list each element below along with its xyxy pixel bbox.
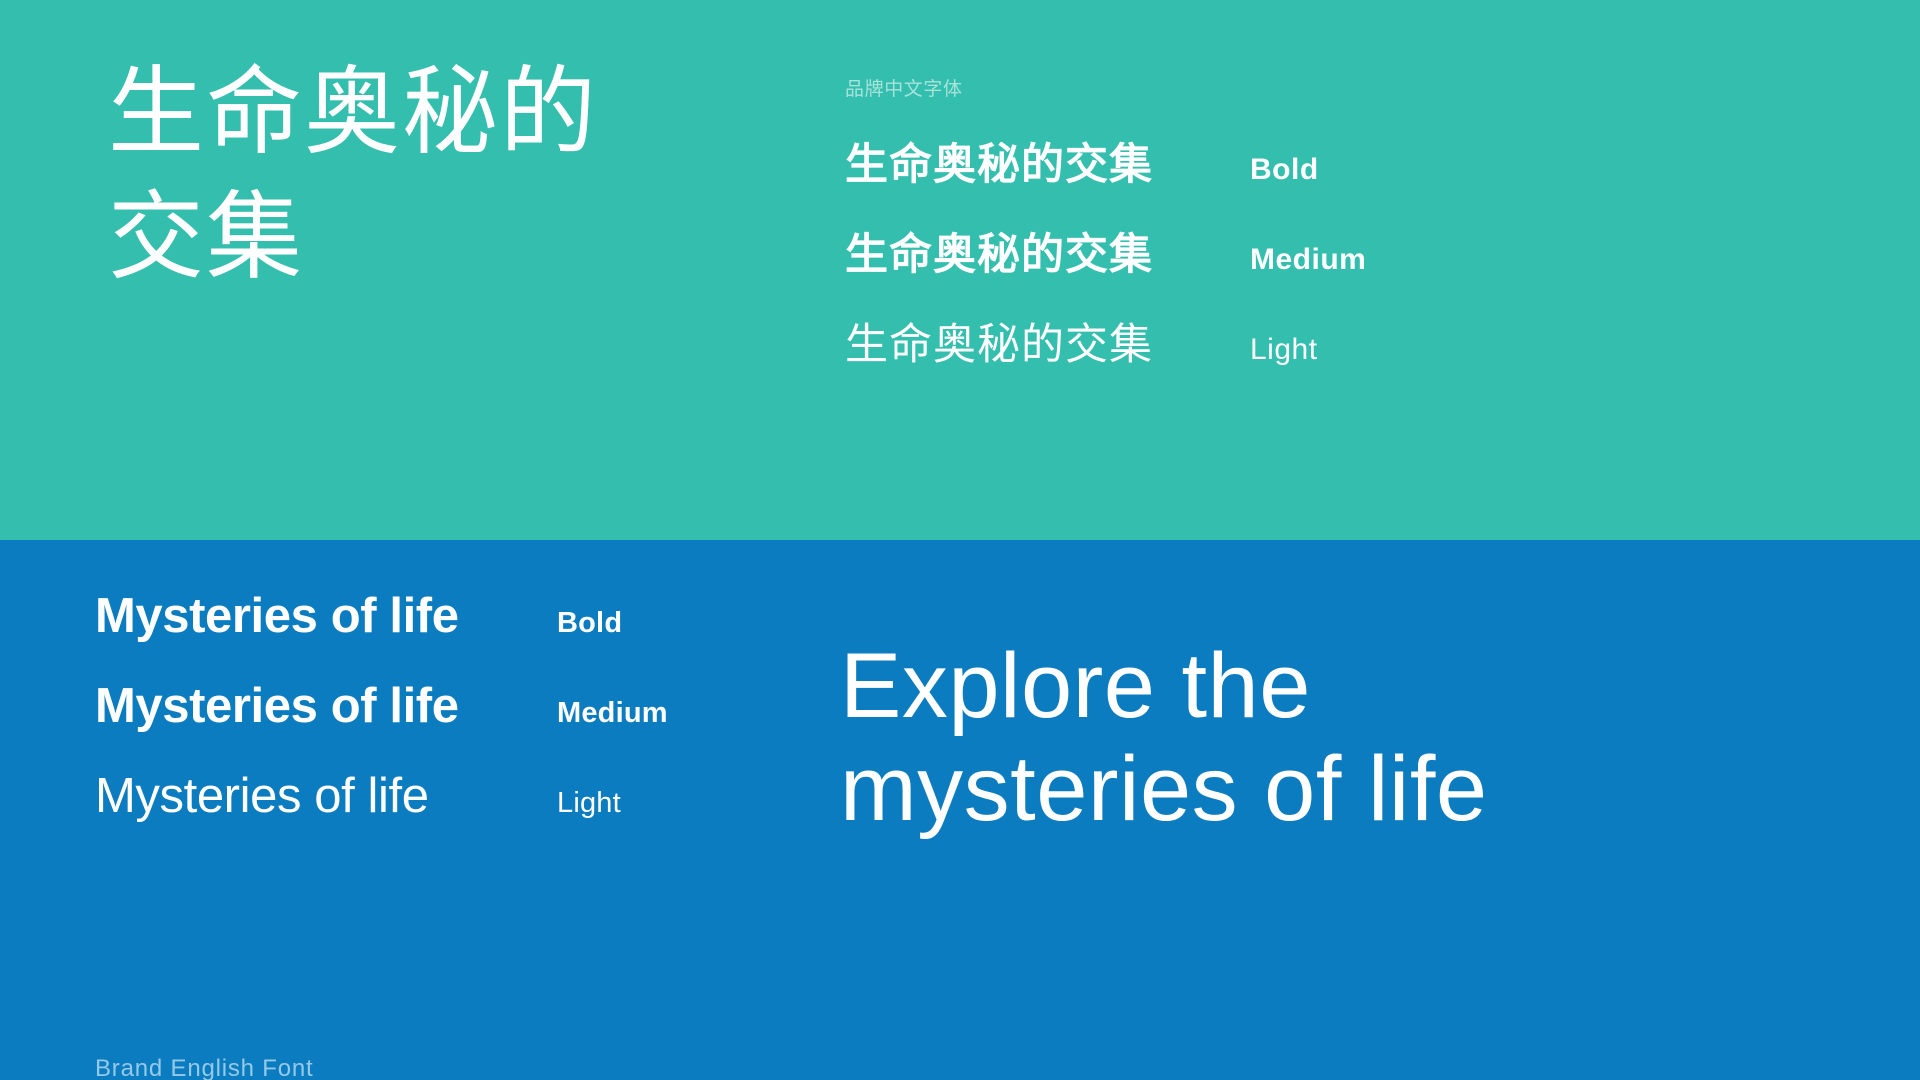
chinese-font-panel: 生命奥秘的 交集 品牌中文字体 生命奥秘的交集 Bold 生命奥秘的交集 Med… <box>0 0 1920 540</box>
english-section-label: Brand English Font <box>95 1055 314 1080</box>
chinese-weight-label-bold: Bold <box>1250 153 1319 187</box>
english-specimen-sample-medium: Mysteries of life <box>95 678 557 734</box>
chinese-display-headline: 生命奥秘的 交集 <box>108 50 728 300</box>
english-weight-label-bold: Bold <box>557 607 622 640</box>
chinese-section-label: 品牌中文字体 <box>845 74 963 101</box>
english-specimen-row-medium: Mysteries of life Medium <box>95 678 668 734</box>
chinese-specimen-sample-bold: 生命奥秘的交集 <box>845 130 1250 192</box>
chinese-specimen-row-bold: 生命奥秘的交集 Bold <box>845 130 1319 192</box>
english-weight-label-light: Light <box>557 787 621 820</box>
chinese-specimen-sample-light: 生命奥秘的交集 <box>845 310 1250 372</box>
english-display-headline: Explore the mysteries of life <box>840 635 1840 841</box>
english-specimen-row-light: Mysteries of life Light <box>95 768 621 824</box>
chinese-specimen-sample-medium: 生命奥秘的交集 <box>845 220 1250 282</box>
chinese-weight-label-light: Light <box>1250 333 1318 367</box>
english-specimen-sample-bold: Mysteries of life <box>95 588 557 644</box>
english-weight-label-medium: Medium <box>557 697 668 730</box>
brand-typography-board: 生命奥秘的 交集 品牌中文字体 生命奥秘的交集 Bold 生命奥秘的交集 Med… <box>0 0 1920 1080</box>
chinese-weight-label-medium: Medium <box>1250 243 1366 277</box>
english-font-panel: Brand English Font Mysteries of life Bol… <box>0 540 1920 1080</box>
english-specimen-row-bold: Mysteries of life Bold <box>95 588 622 644</box>
chinese-specimen-row-light: 生命奥秘的交集 Light <box>845 310 1318 372</box>
chinese-specimen-row-medium: 生命奥秘的交集 Medium <box>845 220 1366 282</box>
english-specimen-sample-light: Mysteries of life <box>95 768 557 824</box>
